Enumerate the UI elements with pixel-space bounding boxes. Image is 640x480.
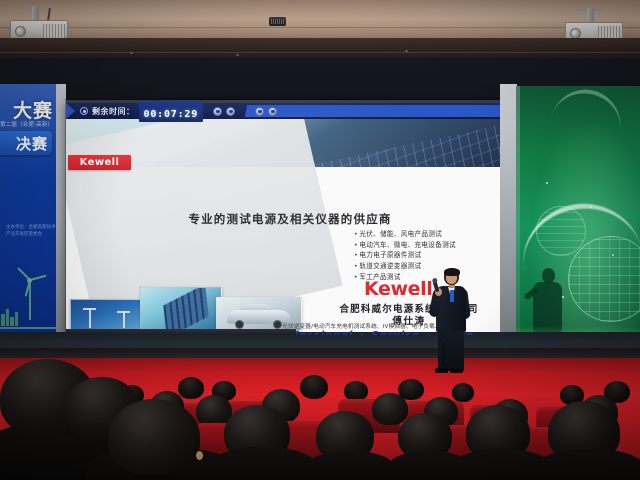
circle-icon-2 [226, 107, 235, 116]
sparkle-dot [612, 254, 614, 256]
banner-left-title: 大赛 [0, 96, 56, 123]
left-blue-banner: 大赛 第二届（合肥·高新） 决赛 主办单位：合肥高新技术产业开发区管委会 [0, 84, 56, 360]
skyline-building [10, 317, 14, 326]
ceiling [0, 0, 640, 40]
turbine-blade [30, 275, 47, 281]
audience-seating [0, 355, 640, 480]
circle-icon-3 [255, 107, 264, 116]
skyline-building [6, 309, 9, 326]
timer-value: 00:07:29 [144, 109, 199, 120]
circle-icon-4 [268, 107, 277, 116]
ceiling-beam [0, 38, 640, 60]
city-skyline-graphic [0, 306, 20, 326]
slide-logo-small-text: Kewell [80, 157, 120, 168]
figure-head [542, 268, 555, 283]
slide-floor-line [66, 329, 296, 335]
slide-logo-small: Kewell [68, 155, 131, 170]
audience-head [344, 381, 368, 401]
turbine-mast [123, 311, 125, 328]
projector-vents [43, 24, 65, 39]
turbine-mast [89, 308, 91, 328]
list-item: 光伏、储能、风电产品测试 [354, 229, 500, 240]
banner-left-subtitle: 第二届（合肥·高新） [0, 120, 56, 128]
tagline-word-2: Service [371, 330, 420, 335]
audience-shoulders [304, 451, 396, 480]
timer-bar-tail [241, 105, 500, 117]
clock-icon [80, 107, 88, 115]
banner-left-meta: 主办单位：合肥高新技术产业开发区管委会 [0, 224, 56, 238]
projector-lens-icon [15, 26, 26, 37]
sparkle-dot [546, 182, 548, 184]
sparkle-dot [590, 206, 592, 208]
audience-head [300, 375, 328, 399]
car-wheel [235, 320, 244, 329]
banner-left-pill: 决赛 [0, 131, 52, 155]
ceiling-fixture-dot [236, 54, 239, 56]
projector-mount-arm [32, 6, 39, 21]
turbine-blade [117, 311, 130, 313]
timer-label: 剩余时间： [92, 106, 135, 117]
presenter-tie [450, 290, 454, 302]
globe-wireframe-graphic [568, 236, 640, 322]
solar-panel-tilt [163, 287, 208, 331]
slide-logo-large: Kewell [364, 278, 432, 300]
bullet-dot-icon [360, 334, 364, 336]
list-item: 电力电子原器件测试 [354, 250, 500, 261]
skyline-building [1, 314, 5, 326]
wall-sliver-left [56, 84, 66, 360]
circle-icon-1 [213, 107, 222, 116]
globe-wireframe-graphic [536, 206, 586, 256]
audience-ear [196, 451, 203, 460]
ceiling-speaker [269, 17, 286, 26]
slide-headline: 专业的测试电源及相关仪器的供应商 [170, 211, 410, 227]
projector-mount-arm [587, 8, 594, 23]
banner-left-pill-label: 决赛 [16, 133, 48, 154]
turbine-hub [27, 278, 32, 283]
list-item: 电动汽车、微电、充电设备测试 [354, 240, 500, 251]
solar-array-photo [140, 287, 222, 331]
audience-shoulders [208, 447, 318, 480]
skyline-building [15, 312, 18, 326]
countdown-timer-bar: 剩余时间： 00:07:29 [66, 103, 500, 119]
ceiling-fixture-dot [405, 50, 408, 52]
swoosh-graphic [551, 86, 627, 133]
presenter-hair [444, 268, 460, 276]
audience-head [452, 383, 474, 402]
right-green-banner [516, 86, 640, 360]
list-item: 轨道交通逆变器测试 [354, 261, 500, 272]
timer-bar-icon-group [213, 107, 235, 116]
slide-bullet-list: 光伏、储能、风电产品测试 电动汽车、微电、充电设备测试 电力电子原器件测试 轨道… [354, 229, 500, 283]
audience-head [178, 377, 204, 399]
banner-edge-highlight [516, 86, 520, 360]
turbine-blade [83, 308, 96, 310]
audience-head [372, 393, 408, 425]
audience-head [108, 399, 200, 475]
timer-bar-arrow [66, 103, 75, 119]
wall-sliver-right [500, 84, 517, 360]
conference-hall-photo: 大赛 第二届（合肥·高新） 决赛 主办单位：合肥高新技术产业开发区管委会 [0, 0, 640, 480]
ceiling-fixture-dot [130, 52, 133, 54]
audience-shoulders [534, 449, 640, 480]
banner-ground-line [0, 327, 56, 329]
ceiling-seam [0, 27, 640, 28]
timer-value-box: 00:07:29 [139, 101, 204, 122]
beam-line [0, 52, 640, 53]
